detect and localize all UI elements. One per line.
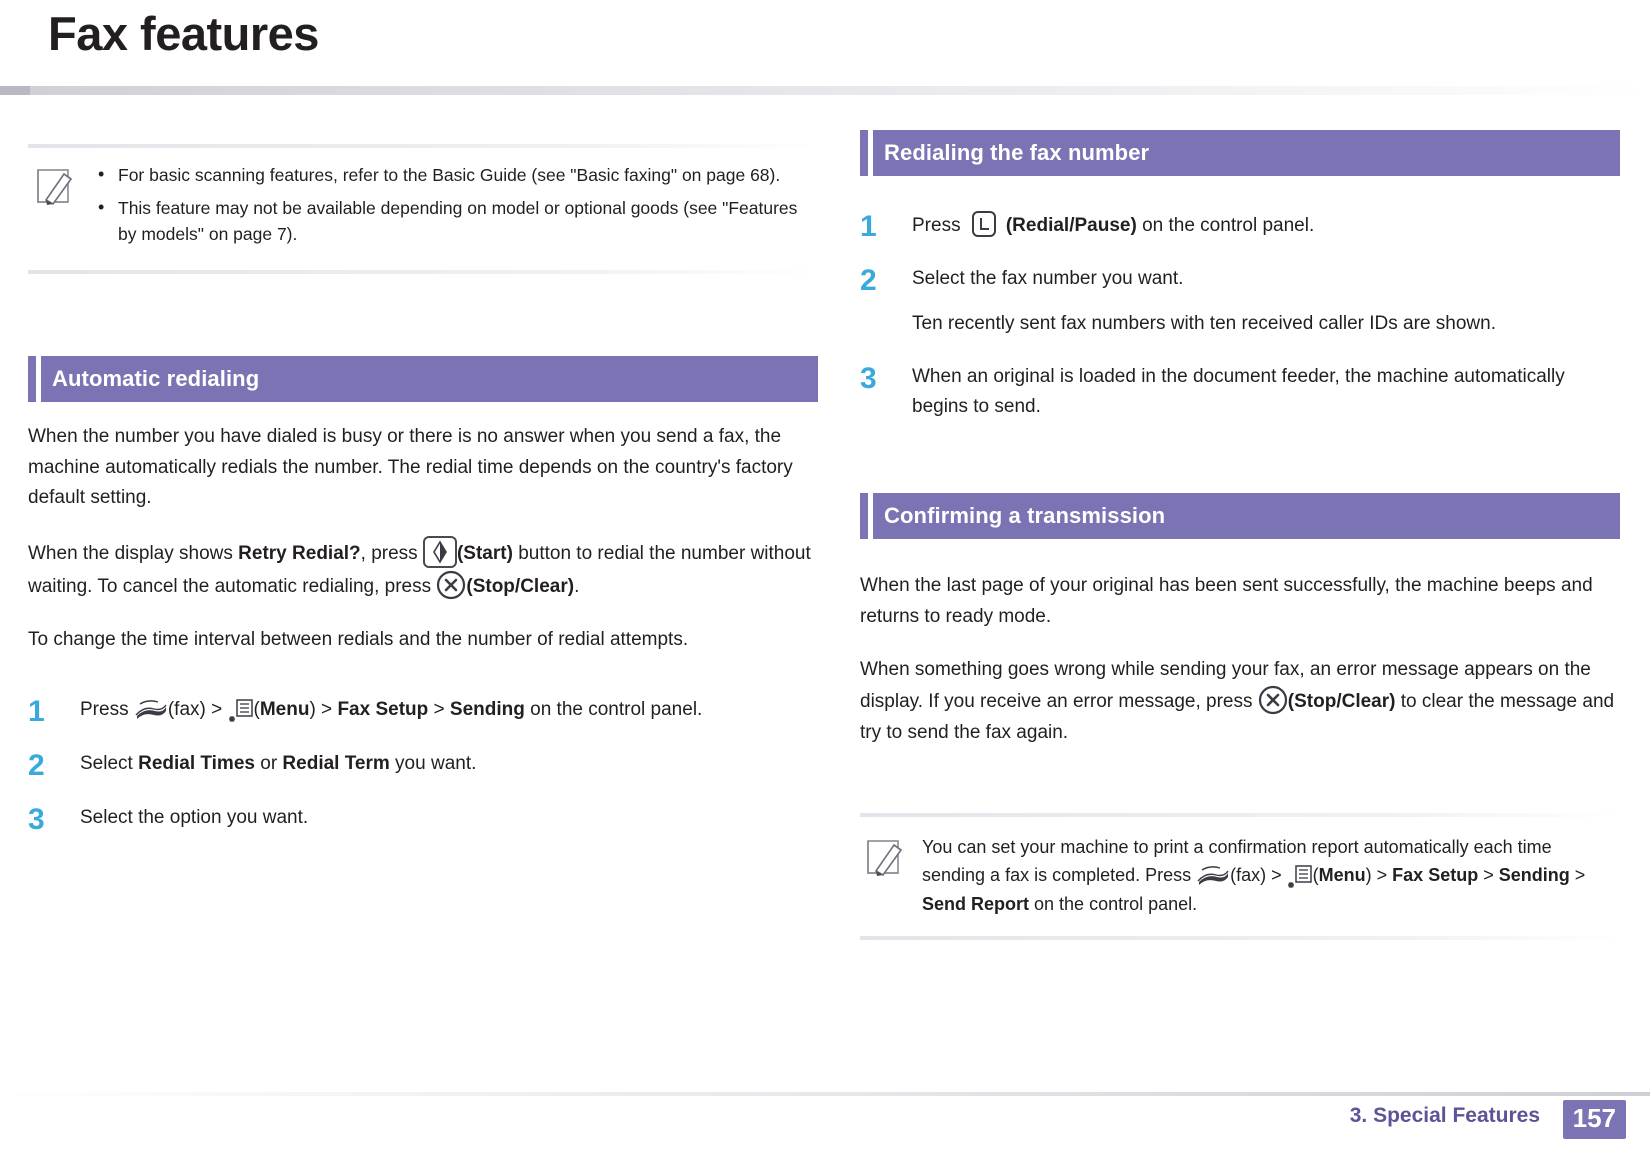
paragraph-confirming-2: When something goes wrong while sending … — [860, 655, 1620, 749]
step-number: 3 — [28, 803, 80, 835]
text-fragment: (fax) > — [1230, 865, 1287, 885]
stop-clear-button-icon — [436, 570, 466, 600]
footer-divider — [0, 1092, 1650, 1096]
ui-label-fax-setup: Fax Setup — [1392, 865, 1478, 885]
step-item: 3 When an original is loaded in the docu… — [860, 362, 1620, 424]
step-text: Select Redial Times or Redial Term you w… — [80, 749, 818, 780]
text-fragment: ) > — [309, 699, 337, 720]
ui-label-redial-times: Redial Times — [138, 753, 255, 774]
bottom-note-box: You can set your machine to print a conf… — [860, 799, 1620, 954]
step-item: 1 Press (fax) > (Menu) > Fax Setup > Sen… — [28, 695, 818, 727]
footer-chapter-label: 3. Special Features — [1350, 1104, 1540, 1128]
paragraph-automatic-redialing-2: When the display shows Retry Redial?, pr… — [28, 536, 818, 603]
title-divider — [0, 86, 1650, 95]
ui-label-stop-clear: (Stop/Clear) — [466, 576, 574, 597]
right-column: Redialing the fax number 1 Press (Redial… — [860, 130, 1620, 954]
menu-button-icon — [1287, 862, 1313, 888]
ui-label-redial-pause: (Redial/Pause) — [1006, 215, 1137, 236]
step-text-line: Ten recently sent fax numbers with ten r… — [912, 309, 1620, 340]
text-fragment: , press — [361, 543, 423, 564]
step-number: 3 — [860, 362, 912, 394]
page-footer: 3. Special Features 157 — [0, 1092, 1650, 1138]
text-fragment: Press — [912, 215, 966, 236]
text-fragment: ) > — [1366, 865, 1393, 885]
step-text-line: Select the fax number you want. — [912, 264, 1620, 295]
text-fragment: . — [574, 576, 579, 597]
note-item: This feature may not be available depend… — [92, 195, 812, 248]
text-fragment: on the control panel. — [1137, 215, 1314, 236]
text-fragment: you want. — [390, 753, 477, 774]
note-bottom-rule — [860, 936, 1620, 940]
menu-button-icon — [228, 696, 254, 722]
step-item: 2 Select Redial Times or Redial Term you… — [28, 749, 818, 781]
step-text: Press (Redial/Pause) on the control pane… — [912, 210, 1620, 242]
section-heading-confirming-transmission: Confirming a transmission — [860, 493, 1620, 539]
ui-label-start: (Start) — [457, 543, 513, 564]
ui-label-sending: Sending — [1499, 865, 1570, 885]
document-page: Fax features For basic scanning featur — [0, 0, 1650, 1158]
step-item: 2 Select the fax number you want. Ten re… — [860, 264, 1620, 340]
paragraph-automatic-redialing-1: When the number you have dialed is busy … — [28, 422, 818, 514]
text-fragment: Press — [80, 699, 134, 720]
fax-button-icon — [1196, 863, 1230, 887]
step-text: When an original is loaded in the docume… — [912, 362, 1620, 424]
step-number: 1 — [28, 695, 80, 727]
text-fragment: on the control panel. — [525, 699, 702, 720]
text-fragment: When the display shows — [28, 543, 238, 564]
ui-label-send-report: Send Report — [922, 894, 1029, 914]
text-fragment: or — [255, 753, 282, 774]
redial-pause-button-icon — [966, 210, 1006, 238]
paragraph-confirming-1: When the last page of your original has … — [860, 571, 1620, 633]
step-text: Select the option you want. — [80, 803, 818, 834]
note-item-list: For basic scanning features, refer to th… — [92, 162, 812, 254]
bottom-note-text: You can set your machine to print a conf… — [922, 833, 1614, 918]
note-bottom-rule — [28, 270, 818, 274]
text-fragment: > — [1570, 865, 1586, 885]
paragraph-automatic-redialing-3: To change the time interval between redi… — [28, 625, 818, 656]
text-fragment: Select — [80, 753, 138, 774]
text-fragment: > — [428, 699, 450, 720]
ui-label-redial-term: Redial Term — [282, 753, 389, 774]
step-number: 2 — [860, 264, 912, 296]
step-text: Select the fax number you want. Ten rece… — [912, 264, 1620, 340]
ui-label-menu: Menu — [1319, 865, 1366, 885]
left-column: For basic scanning features, refer to th… — [28, 130, 818, 857]
ui-label-stop-clear: (Stop/Clear) — [1288, 691, 1396, 712]
ui-label-fax-setup: Fax Setup — [337, 699, 428, 720]
text-fragment: > — [1478, 865, 1499, 885]
ui-label-menu: Menu — [260, 699, 310, 720]
section-heading-automatic-redialing: Automatic redialing — [28, 356, 818, 402]
step-item: 3 Select the option you want. — [28, 803, 818, 835]
text-fragment: on the control panel. — [1029, 894, 1197, 914]
section-heading-redialing-fax-number: Redialing the fax number — [860, 130, 1620, 176]
page-title: Fax features — [48, 6, 319, 61]
top-note-box: For basic scanning features, refer to th… — [28, 130, 818, 288]
ui-label-sending: Sending — [450, 699, 525, 720]
step-number: 1 — [860, 210, 912, 242]
ui-label-retry-redial: Retry Redial? — [238, 543, 360, 564]
title-divider-cap — [0, 86, 30, 95]
stop-clear-button-icon — [1258, 685, 1288, 715]
note-pencil-icon — [864, 837, 910, 877]
step-item: 1 Press (Redial/Pause) on the control pa… — [860, 210, 1620, 242]
step-text: Press (fax) > (Menu) > Fax Setup > Sendi… — [80, 695, 818, 726]
fax-button-icon — [134, 697, 168, 721]
step-number: 2 — [28, 749, 80, 781]
footer-page-number: 157 — [1563, 1100, 1626, 1139]
text-fragment: (fax) > — [168, 699, 228, 720]
start-button-icon — [423, 536, 457, 568]
note-pencil-icon — [34, 166, 80, 206]
note-item: For basic scanning features, refer to th… — [92, 162, 812, 189]
